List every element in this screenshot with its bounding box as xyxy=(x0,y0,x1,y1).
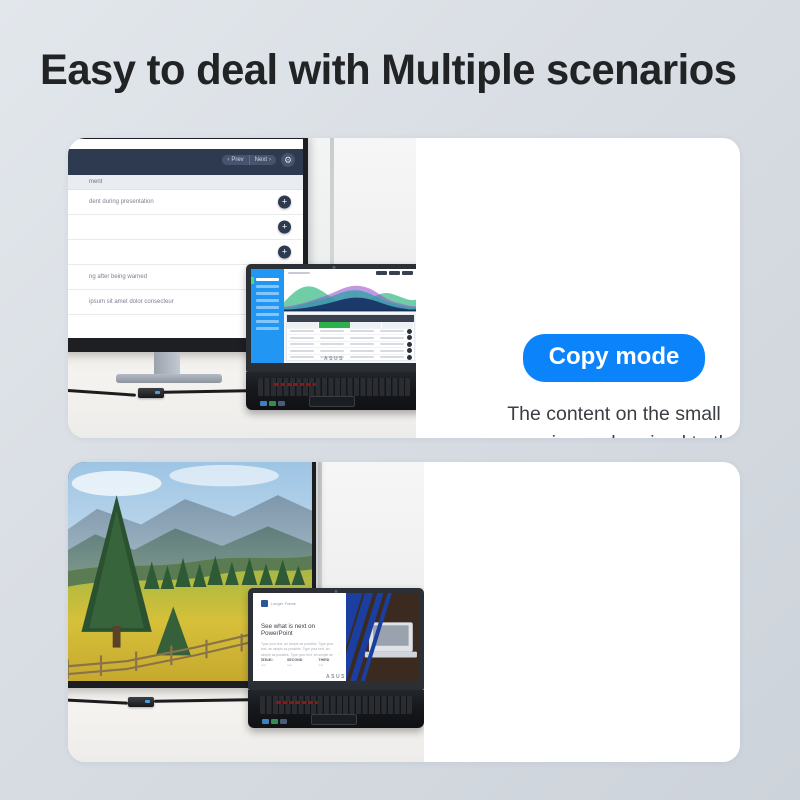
dashboard-sidebar[interactable] xyxy=(251,269,284,363)
toolbar-controls: ‹ Prev Next › ⚙ xyxy=(222,153,295,167)
monitor-list-subheader: ment xyxy=(68,175,303,190)
add-icon[interactable]: + xyxy=(278,246,291,259)
slide-decoration xyxy=(346,593,419,681)
copy-mode-text-block: Copy mode The content on the small scree… xyxy=(436,334,740,438)
list-item-label: dent during presentation xyxy=(89,199,154,205)
usb-c-adapter xyxy=(128,697,154,707)
slide-title: See what is next on PowerPoint xyxy=(261,623,338,637)
slide-column-heading: SECOND xyxy=(287,658,302,662)
chevron-right-icon: › xyxy=(269,157,271,163)
slide-image-panel xyxy=(346,593,419,681)
sidebar-item[interactable] xyxy=(256,306,279,309)
laptop-stickers xyxy=(262,719,287,724)
laptop-trackpad[interactable] xyxy=(311,714,357,725)
data-table xyxy=(286,314,415,362)
laptop-screen: ASUS xyxy=(251,269,416,363)
slide-column: SECOND text xyxy=(287,658,302,667)
dashboard-app xyxy=(251,269,416,363)
panel-expansion-mode: Longer Frame See what is next on PowerPo… xyxy=(68,462,740,762)
page-title: Easy to deal with Multiple scenarios xyxy=(40,48,758,93)
area-chart xyxy=(284,277,416,311)
laptop-trackpad[interactable] xyxy=(309,396,355,407)
monitor-stand-base xyxy=(116,374,222,383)
monitor-app-toolbar: ‹ Prev Next › ⚙ xyxy=(68,149,303,175)
expansion-mode-photo: Longer Frame See what is next on PowerPo… xyxy=(68,462,424,762)
copy-mode-photo: ‹ Prev Next › ⚙ ment dent during xyxy=(68,138,416,438)
slide-column-heading: TITLE xyxy=(261,658,271,662)
dashboard-header xyxy=(284,269,416,277)
asus-laptop: ASUS xyxy=(246,264,416,410)
gear-icon[interactable]: ⚙ xyxy=(281,153,295,167)
list-item-label: ipsum sit amet dolor consecteur xyxy=(89,299,174,305)
slide-column: THIRD text xyxy=(318,658,329,667)
laptop-brand-label: ASUS xyxy=(326,674,346,680)
powerpoint-slide: Longer Frame See what is next on PowerPo… xyxy=(253,593,419,681)
add-icon[interactable]: + xyxy=(278,196,291,209)
list-item[interactable]: + xyxy=(68,240,303,265)
laptop-base xyxy=(248,690,424,728)
laptop-lid: ASUS xyxy=(246,264,416,372)
prev-button[interactable]: ‹ Prev xyxy=(222,155,248,165)
sidebar-item[interactable] xyxy=(256,327,279,330)
slide-column-sub: text xyxy=(261,663,271,667)
laptop-screen: Longer Frame See what is next on PowerPo… xyxy=(253,593,419,681)
list-item-label: ng after being warned xyxy=(89,274,147,280)
next-button[interactable]: Next › xyxy=(249,155,276,165)
next-label: Next xyxy=(255,157,267,163)
table-toolbar xyxy=(287,315,414,322)
dashboard-main xyxy=(284,269,416,363)
asus-laptop: Longer Frame See what is next on PowerPo… xyxy=(248,588,424,728)
usb-c-adapter xyxy=(138,388,164,398)
powerpoint-icon xyxy=(261,600,268,607)
sidebar-item[interactable] xyxy=(256,320,279,323)
sidebar-item[interactable] xyxy=(256,313,279,316)
dashboard-header-actions[interactable] xyxy=(376,271,413,275)
dashboard-header-title xyxy=(288,272,310,275)
sidebar-item[interactable] xyxy=(256,299,279,302)
laptop-brand-label: ASUS xyxy=(324,356,344,362)
monitor-screen-topbar xyxy=(68,139,303,149)
slide-columns: TITLE text SECOND text THIRD text xyxy=(261,658,329,667)
prev-label: Prev xyxy=(231,157,243,163)
slide-column: TITLE text xyxy=(261,658,271,667)
keyboard-wasd-highlight xyxy=(274,383,316,387)
laptop-base xyxy=(246,372,416,410)
slide-column-sub: text xyxy=(287,663,302,667)
list-item[interactable]: + xyxy=(68,215,303,240)
sidebar-item[interactable] xyxy=(256,285,279,288)
laptop-keyboard[interactable] xyxy=(258,378,409,395)
description-line: The content on the small xyxy=(436,400,740,429)
sidebar-item[interactable] xyxy=(256,278,279,281)
laptop-keyboard[interactable] xyxy=(260,696,411,713)
area-chart-svg xyxy=(284,277,416,311)
description-line: screen is synchronized to the xyxy=(436,429,740,438)
laptop-lid: Longer Frame See what is next on PowerPo… xyxy=(248,588,424,690)
keyboard-wasd-highlight xyxy=(276,701,318,705)
copy-mode-description: The content on the small screen is synch… xyxy=(436,400,740,438)
slide-column-heading: THIRD xyxy=(318,658,329,662)
pagination-group: ‹ Prev Next › xyxy=(222,155,276,165)
table-row[interactable] xyxy=(287,354,414,361)
laptop-stickers xyxy=(260,401,285,406)
slide-column-sub: text xyxy=(318,663,329,667)
chevron-left-icon: ‹ xyxy=(227,157,229,163)
list-item[interactable]: dent during presentation + xyxy=(68,190,303,215)
add-icon[interactable]: + xyxy=(278,221,291,234)
panel-copy-mode: ‹ Prev Next › ⚙ ment dent during xyxy=(68,138,740,438)
slide-logo-label: Longer Frame xyxy=(271,602,296,606)
slide-logo: Longer Frame xyxy=(261,600,338,607)
slide-content: Longer Frame See what is next on PowerPo… xyxy=(253,593,346,681)
sidebar-item[interactable] xyxy=(256,292,279,295)
copy-mode-badge: Copy mode xyxy=(523,334,706,382)
